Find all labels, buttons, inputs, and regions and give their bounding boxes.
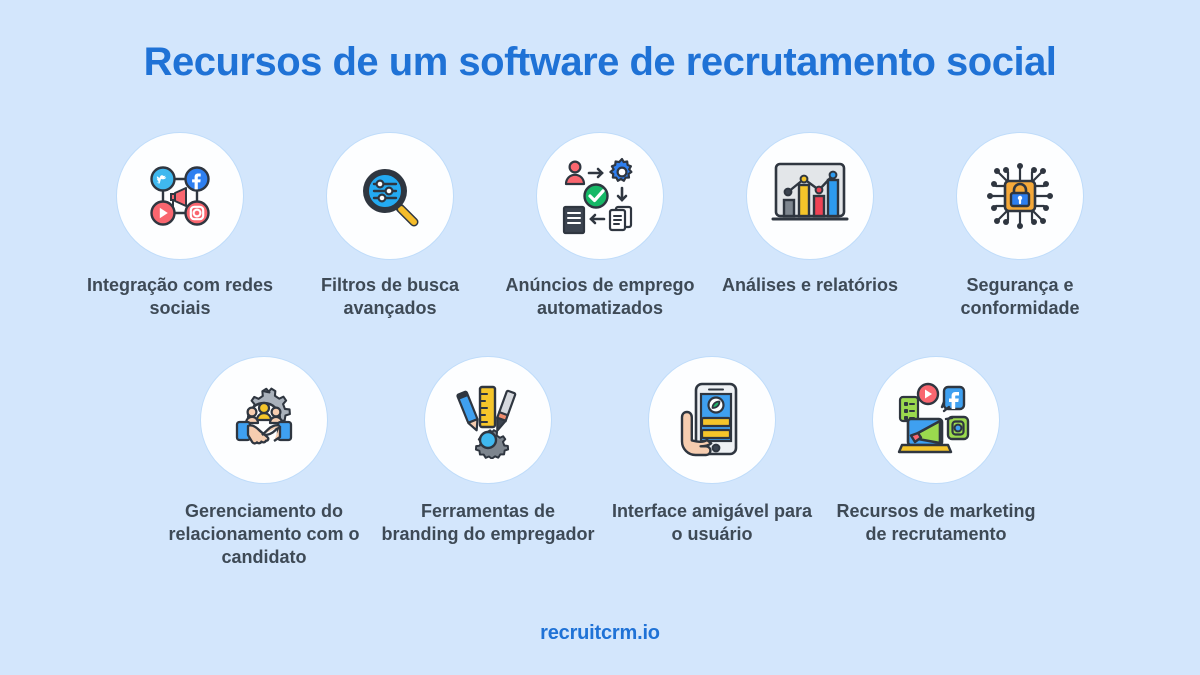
design-tools-gear-icon xyxy=(451,381,525,459)
handshake-gear-icon xyxy=(225,383,303,457)
feature-label: Ferramentas de branding do empregador xyxy=(381,500,596,546)
icon-circle xyxy=(648,356,776,484)
security-chip-lock-icon xyxy=(980,156,1060,236)
feature-item-security-compliance[interactable]: Segurança e conformidade xyxy=(956,132,1084,320)
page-title: Recursos de um software de recrutamento … xyxy=(0,40,1200,85)
feature-row-1: Integração com redes sociais xyxy=(0,132,1200,320)
feature-label: Segurança e conformidade xyxy=(925,274,1115,320)
feature-item-analytics-reports[interactable]: Análises e relatórios xyxy=(746,132,874,320)
feature-item-candidate-relationship[interactable]: Gerenciamento do relacionamento com o ca… xyxy=(200,356,328,569)
feature-label: Anúncios de emprego automatizados xyxy=(505,274,695,320)
icon-circle xyxy=(536,132,664,260)
feature-item-employer-branding[interactable]: Ferramentas de branding do empregador xyxy=(424,356,552,569)
feature-label: Integração com redes sociais xyxy=(85,274,275,320)
icon-circle xyxy=(116,132,244,260)
social-network-integration-icon xyxy=(142,158,218,234)
feature-label: Recursos de marketing de recrutamento xyxy=(829,500,1044,546)
icon-circle xyxy=(424,356,552,484)
analytics-chart-icon xyxy=(771,160,849,232)
icon-circle xyxy=(956,132,1084,260)
magnifier-filters-icon xyxy=(352,158,428,234)
feature-item-search-filters[interactable]: Filtros de busca avançados xyxy=(326,132,454,320)
icon-circle xyxy=(872,356,1000,484)
feature-item-automated-job-ads[interactable]: Anúncios de emprego automatizados xyxy=(536,132,664,320)
icon-circle xyxy=(326,132,454,260)
footer-brand[interactable]: recruitcrm.io xyxy=(0,622,1200,645)
feature-item-social-integration[interactable]: Integração com redes sociais xyxy=(116,132,244,320)
feature-label: Interface amigável para o usuário xyxy=(605,500,820,546)
feature-label: Filtros de busca avançados xyxy=(295,274,485,320)
feature-label: Gerenciamento do relacionamento com o ca… xyxy=(157,500,372,569)
icon-circle xyxy=(200,356,328,484)
feature-item-recruitment-marketing[interactable]: Recursos de marketing de recrutamento xyxy=(872,356,1000,569)
icon-circle xyxy=(746,132,874,260)
feature-item-user-interface[interactable]: Interface amigável para o usuário xyxy=(648,356,776,569)
feature-label: Análises e relatórios xyxy=(715,274,905,297)
laptop-megaphone-social-icon xyxy=(896,381,976,459)
infographic-canvas: Recursos de um software de recrutamento … xyxy=(0,0,1200,675)
automation-workflow-icon xyxy=(560,157,640,235)
feature-row-2: Gerenciamento do relacionamento com o ca… xyxy=(0,356,1200,569)
hand-smartphone-icon xyxy=(676,380,748,460)
